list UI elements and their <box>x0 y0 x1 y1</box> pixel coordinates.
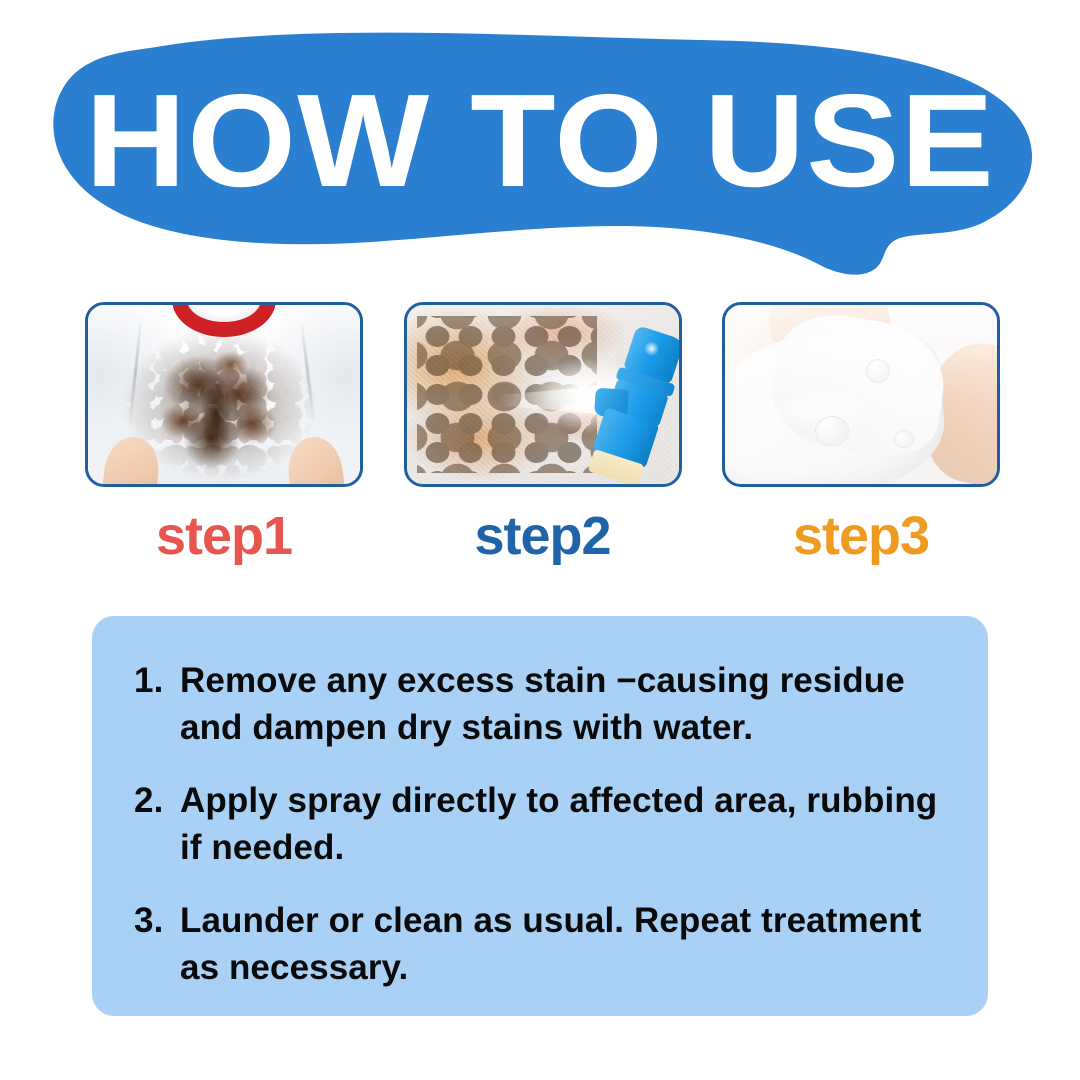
instruction-number-2: 2. <box>134 778 180 871</box>
step-card-3[interactable]: step3 <box>722 302 1000 582</box>
instruction-item-1: 1. Remove any excess stain −causing resi… <box>134 658 948 751</box>
step-card-1[interactable]: step1 <box>85 302 363 582</box>
instruction-number-1: 1. <box>134 658 180 751</box>
step3-label: step3 <box>722 509 1000 563</box>
step2-label: step2 <box>404 509 682 563</box>
instructions-list: 1. Remove any excess stain −causing resi… <box>134 658 948 991</box>
step1-label: step1 <box>85 509 363 563</box>
instruction-text-1: Remove any excess stain −causing residue… <box>180 658 948 751</box>
steps-row: step1 <box>85 302 1000 582</box>
instruction-item-3: 3. Launder or clean as usual. Repeat tre… <box>134 898 948 991</box>
step1-thumbnail <box>85 302 363 487</box>
step2-thumbnail <box>404 302 682 487</box>
step1-image-stained-shirt <box>88 305 360 484</box>
instruction-item-2: 2. Apply spray directly to affected area… <box>134 778 948 871</box>
how-to-use-infographic: HOW TO USE step1 <box>0 0 1080 1080</box>
instructions-panel: 1. Remove any excess stain −causing resi… <box>92 616 988 1016</box>
instruction-number-3: 3. <box>134 898 180 991</box>
page-title: HOW TO USE <box>0 30 1080 290</box>
header-banner: HOW TO USE <box>0 30 1080 290</box>
step3-thumbnail <box>722 302 1000 487</box>
step2-image-spray-applied <box>407 305 679 484</box>
instruction-text-3: Launder or clean as usual. Repeat treatm… <box>180 898 948 991</box>
step3-image-washing-garment <box>725 305 997 484</box>
step-card-2[interactable]: step2 <box>404 302 682 582</box>
instruction-text-2: Apply spray directly to affected area, r… <box>180 778 948 871</box>
